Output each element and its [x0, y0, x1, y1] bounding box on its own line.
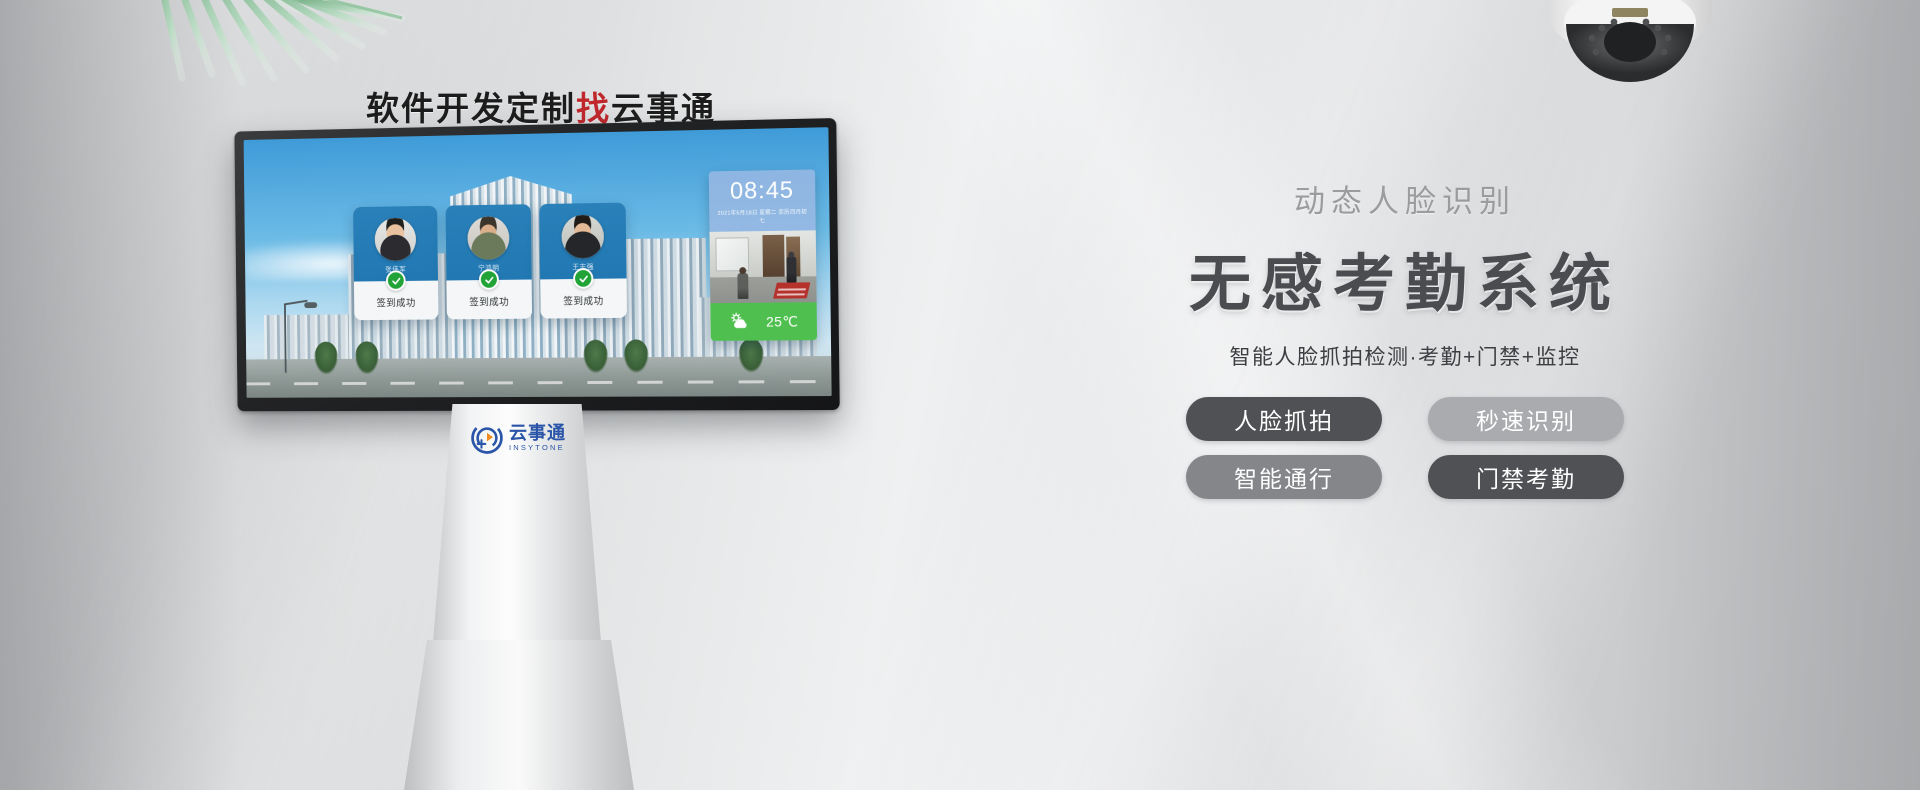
feature-tag-face-capture[interactable]: 人脸抓拍 — [1186, 397, 1382, 441]
dome-camera-icon — [1530, 0, 1730, 137]
checkin-status: 签到成功 — [544, 292, 623, 308]
check-icon — [386, 270, 406, 291]
monitor-screen: 张伟军 签到成功 宁鸿明 — [244, 127, 832, 398]
tree — [355, 341, 380, 374]
brand-logo: 云事通 INSYTONE — [470, 414, 578, 462]
check-icon — [479, 269, 499, 290]
insytone-logo-icon — [470, 421, 504, 455]
headline-accent: 找 — [576, 89, 611, 128]
attendance-card[interactable]: 王志强 签到成功 — [539, 203, 627, 319]
street-lamp-post — [284, 303, 287, 372]
logo-english: INSYTONE — [509, 444, 566, 452]
attendance-card-list: 张伟军 签到成功 宁鸿明 — [353, 203, 627, 321]
cloud-sun-icon — [729, 311, 751, 333]
card-body: 签到成功 — [354, 281, 439, 321]
weather-widget: 25℃ — [710, 302, 817, 341]
card-body: 签到成功 — [446, 280, 532, 320]
monitor-stand-base — [404, 640, 634, 790]
attendance-card[interactable]: 宁鸿明 签到成功 — [446, 204, 533, 319]
feature-tag-list: 人脸抓拍 秒速识别 智能通行 门禁考勤 — [1125, 397, 1685, 499]
tree — [314, 342, 338, 375]
page-title: 无感考勤系统 — [1125, 233, 1685, 323]
check-icon — [573, 268, 593, 289]
weather-temperature: 25℃ — [766, 313, 799, 330]
checkin-status: 签到成功 — [450, 293, 528, 308]
headline-prefix: 软件开发定制 — [366, 89, 576, 128]
clock-time: 08:45 — [715, 179, 810, 205]
tree — [583, 340, 608, 374]
logo-chinese: 云事通 — [509, 424, 566, 442]
person-silhouette — [786, 257, 796, 283]
person-silhouette — [737, 273, 748, 299]
feature-tag-smart-access[interactable]: 智能通行 — [1186, 455, 1382, 499]
attendance-card[interactable]: 张伟军 签到成功 — [353, 206, 438, 320]
tree — [623, 339, 649, 373]
feature-tag-fast-recognition[interactable]: 秒速识别 — [1428, 397, 1624, 441]
camera-feed[interactable] — [709, 230, 816, 303]
copy-block: 动态人脸识别 无感考勤系统 智能人脸抓拍检测·考勤+门禁+监控 人脸抓拍 秒速识… — [1125, 176, 1685, 499]
kiosk-monitor: 张伟军 签到成功 宁鸿明 — [234, 118, 839, 411]
tree — [738, 339, 764, 373]
street-lamp-head — [304, 302, 317, 308]
clock-date: 2021年5月18日 星期二 农历四月初七 — [715, 207, 810, 224]
checkin-status: 签到成功 — [358, 294, 435, 309]
avatar — [561, 215, 604, 259]
monitor-bezel: 张伟军 签到成功 宁鸿明 — [234, 118, 839, 411]
info-panel: 08:45 2021年5月18日 星期二 农历四月初七 — [709, 169, 817, 340]
card-body: 签到成功 — [540, 278, 627, 318]
clock-widget: 08:45 2021年5月18日 星期二 农历四月初七 — [709, 169, 816, 231]
avatar — [467, 216, 509, 260]
page-subtitle: 动态人脸识别 — [1125, 176, 1685, 221]
avatar — [375, 218, 417, 261]
logo-wordmark: 云事通 INSYTONE — [509, 424, 566, 452]
hero-banner: 软件开发定制找云事通 — [0, 0, 1920, 790]
feature-tag-door-attendance[interactable]: 门禁考勤 — [1428, 455, 1624, 499]
page-tagline: 智能人脸抓拍检测·考勤+门禁+监控 — [1125, 341, 1685, 371]
